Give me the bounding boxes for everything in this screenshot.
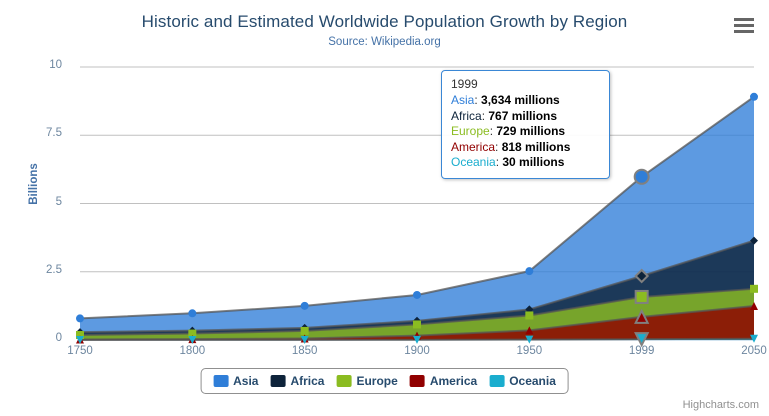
y-axis-tick-label: 7.5	[22, 127, 62, 139]
legend-label: America	[430, 374, 477, 388]
tooltip-row: Asia: 3,634 millions	[451, 93, 601, 109]
y-axis-tick-label: 0	[22, 332, 62, 344]
tooltip-series-name: Africa	[451, 109, 482, 123]
legend-swatch-icon	[410, 375, 425, 387]
legend-label: Europe	[356, 374, 397, 388]
x-axis-tick-label: 1900	[387, 345, 447, 357]
point-marker[interactable]	[635, 170, 649, 184]
tooltip-series-name: Asia	[451, 93, 474, 107]
legend-label: Africa	[290, 374, 324, 388]
y-axis-tick-label: 2.5	[22, 264, 62, 276]
point-marker[interactable]	[636, 291, 648, 303]
tooltip-series-name: Oceania	[451, 155, 496, 169]
x-axis-tick-label: 1950	[499, 345, 559, 357]
point-marker[interactable]	[525, 311, 533, 319]
tooltip-header: 1999	[451, 77, 601, 91]
legend-swatch-icon	[270, 375, 285, 387]
point-marker[interactable]	[750, 93, 758, 101]
x-axis-tick-label: 1850	[275, 345, 335, 357]
x-axis-tick-label: 2050	[724, 345, 769, 357]
tooltip-series-value: 30 millions	[502, 155, 564, 169]
tooltip-series-name: America	[451, 140, 495, 154]
legend-label: Oceania	[509, 374, 556, 388]
legend-item-europe[interactable]: Europe	[336, 374, 397, 388]
legend-label: Asia	[233, 374, 258, 388]
x-axis-tick-label: 1999	[612, 345, 672, 357]
tooltip-series-value: 3,634 millions	[481, 93, 560, 107]
point-marker[interactable]	[188, 309, 196, 317]
chart-legend: AsiaAfricaEuropeAmericaOceania	[200, 368, 569, 394]
point-marker[interactable]	[750, 285, 758, 293]
tooltip-row: Africa: 767 millions	[451, 109, 601, 125]
tooltip-row: Oceania: 30 millions	[451, 155, 601, 171]
legend-item-america[interactable]: America	[410, 374, 477, 388]
point-marker[interactable]	[76, 314, 84, 322]
legend-swatch-icon	[213, 375, 228, 387]
tooltip-series-value: 767 millions	[488, 109, 557, 123]
tooltip-series-value: 818 millions	[502, 140, 571, 154]
x-axis-tick-label: 1800	[162, 345, 222, 357]
y-axis-tick-label: 5	[22, 196, 62, 208]
point-marker[interactable]	[413, 320, 421, 328]
legend-swatch-icon	[336, 375, 351, 387]
tooltip-row: Europe: 729 millions	[451, 124, 601, 140]
tooltip-rows: Asia: 3,634 millionsAfrica: 767 millions…	[451, 93, 601, 171]
legend-swatch-icon	[489, 375, 504, 387]
tooltip-row: America: 818 millions	[451, 140, 601, 156]
point-marker[interactable]	[301, 302, 309, 310]
point-marker[interactable]	[301, 327, 309, 335]
y-axis-tick-label: 10	[22, 59, 62, 71]
legend-item-oceania[interactable]: Oceania	[489, 374, 556, 388]
chart-tooltip: 1999 Asia: 3,634 millionsAfrica: 767 mil…	[441, 70, 610, 179]
highcharts-container: Historic and Estimated Worldwide Populat…	[0, 0, 769, 416]
legend-item-africa[interactable]: Africa	[270, 374, 324, 388]
x-axis-tick-label: 1750	[50, 345, 110, 357]
y-axis-title: Billions	[28, 144, 40, 224]
point-marker[interactable]	[525, 267, 533, 275]
tooltip-series-value: 729 millions	[496, 124, 565, 138]
point-marker[interactable]	[413, 291, 421, 299]
legend-item-asia[interactable]: Asia	[213, 374, 258, 388]
tooltip-series-name: Europe	[451, 124, 490, 138]
credits-link[interactable]: Highcharts.com	[683, 399, 759, 411]
